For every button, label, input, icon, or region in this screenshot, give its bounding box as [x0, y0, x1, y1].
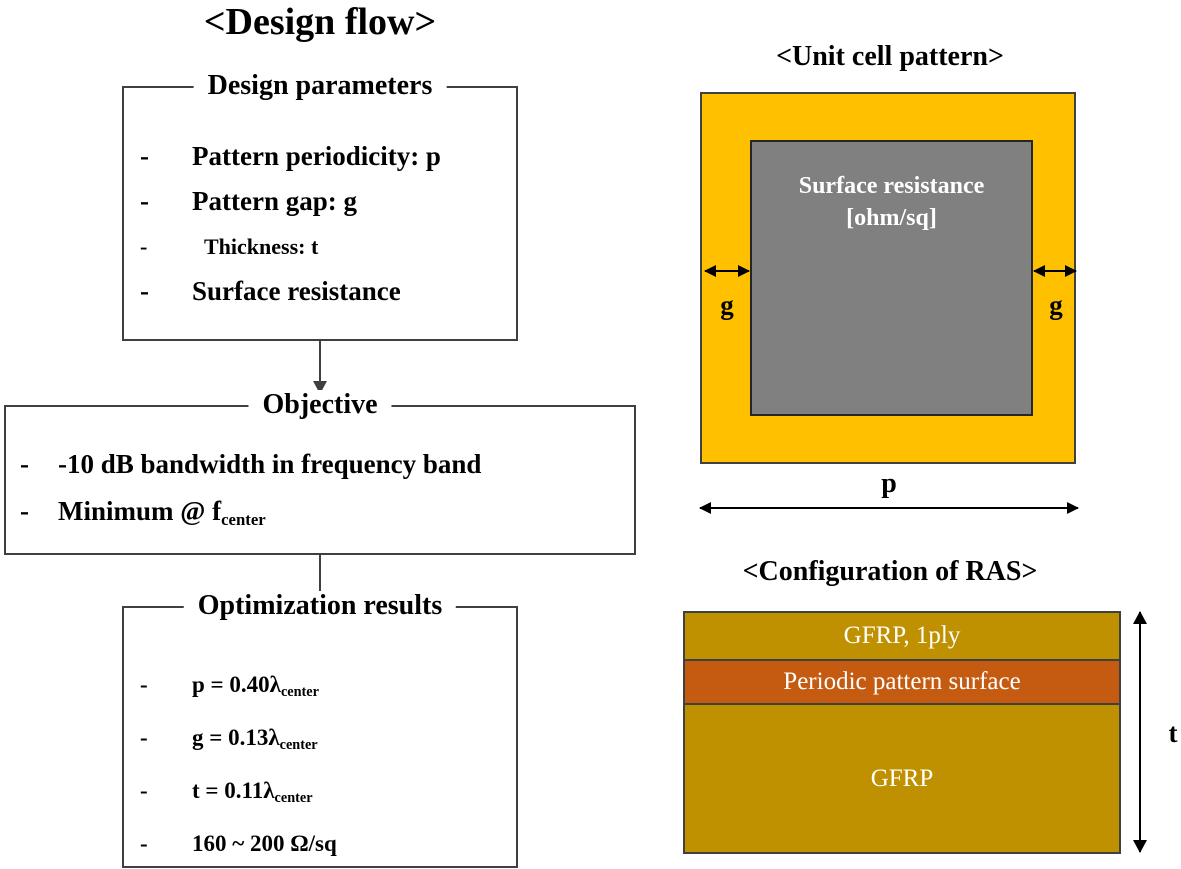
ras-layer-label: GFRP [871, 765, 934, 793]
list-item-label: Thickness: t [204, 224, 318, 269]
gap-label-right: g [1034, 290, 1078, 321]
bullet-dash: - [140, 660, 192, 709]
ras-layer-label: Periodic pattern surface [783, 668, 1020, 696]
thickness-dimension-arrow [1139, 612, 1141, 852]
ras-layer-stack: GFRP, 1ply Periodic pattern surface GFRP [683, 611, 1121, 854]
arrow-head-right-icon [738, 265, 750, 277]
bullet-dash: - [140, 224, 204, 269]
objective-list: - -10 dB bandwidth in frequency band - M… [20, 441, 634, 538]
periodicity-dimension-arrow [700, 507, 1078, 509]
bullet-dash: - [20, 441, 58, 488]
thickness-label: t [1158, 718, 1181, 749]
list-item-subscript: center [221, 496, 266, 543]
arrow-head-up-icon [1133, 611, 1147, 624]
list-item: - t = 0.11λcenter [140, 766, 516, 819]
list-item: - -10 dB bandwidth in frequency band [20, 441, 634, 488]
bullet-dash: - [140, 819, 192, 868]
surface-resistance-label-line1: Surface resistance [799, 170, 985, 202]
list-item-label: t = 0.11λ [192, 766, 275, 815]
bullet-dash: - [140, 269, 192, 314]
unit-cell-pattern-title: <Unit cell pattern> [680, 41, 1100, 73]
arrow-head-left-icon [704, 265, 716, 277]
design-parameters-box: Design parameters - Pattern periodicity:… [122, 86, 518, 341]
surface-resistance-label-line2: [ohm/sq] [846, 202, 937, 234]
list-item: - Pattern periodicity: p [140, 134, 516, 179]
list-item-label: Pattern periodicity: p [192, 134, 441, 179]
bullet-dash: - [140, 179, 192, 224]
arrow-head-left-icon [1033, 265, 1045, 277]
ras-layer-gfrp: GFRP [685, 705, 1119, 852]
optimization-results-box: Optimization results - p = 0.40λcenter -… [122, 606, 518, 868]
flow-connector-arrow-1 [319, 341, 321, 393]
list-item-label: Pattern gap: g [192, 179, 357, 224]
list-item: - p = 0.40λcenter [140, 660, 516, 713]
list-item: - Surface resistance [140, 269, 516, 314]
bullet-dash: - [140, 134, 192, 179]
gap-dimension-arrow-right [1034, 270, 1076, 272]
list-item: - Pattern gap: g [140, 179, 516, 224]
arrow-head-left-icon [699, 502, 711, 514]
design-parameters-title: Design parameters [194, 71, 447, 101]
arrow-head-down-icon [1133, 840, 1147, 853]
bullet-dash: - [140, 766, 192, 815]
list-item-label: g = 0.13λ [192, 713, 280, 762]
list-item-label: p = 0.40λ [192, 660, 281, 709]
objective-box: Objective - -10 dB bandwidth in frequenc… [4, 405, 636, 555]
list-item-label: -10 dB bandwidth in frequency band [58, 441, 481, 488]
list-item-label: Minimum @ f [58, 488, 221, 535]
ras-layer-gfrp-1ply: GFRP, 1ply [685, 613, 1119, 661]
list-item-label: 160 ~ 200 Ω/sq [192, 819, 337, 868]
optimization-results-title: Optimization results [184, 591, 456, 621]
list-item-subscript: center [275, 774, 313, 823]
ras-configuration-title: <Configuration of RAS> [680, 556, 1100, 588]
optimization-results-list: - p = 0.40λcenter - g = 0.13λcenter - t … [140, 660, 516, 868]
unit-cell-inner-square: Surface resistance [ohm/sq] [750, 140, 1033, 416]
list-item-label: Surface resistance [192, 269, 401, 314]
ras-layer-label: GFRP, 1ply [844, 622, 961, 650]
list-item: - Minimum @ fcenter [20, 488, 634, 538]
arrow-head-right-icon [1065, 265, 1077, 277]
ras-layer-periodic-pattern-surface: Periodic pattern surface [685, 661, 1119, 705]
gap-dimension-arrow-left [705, 270, 749, 272]
list-item-subscript: center [281, 668, 319, 717]
list-item: - g = 0.13λcenter [140, 713, 516, 766]
periodicity-label: p [700, 468, 1078, 500]
bullet-dash: - [140, 713, 192, 762]
list-item-subscript: center [280, 721, 318, 770]
arrow-head-right-icon [1067, 502, 1079, 514]
list-item: - Thickness: t [140, 224, 516, 269]
objective-title: Objective [248, 390, 391, 420]
list-item: - 160 ~ 200 Ω/sq [140, 819, 516, 868]
bullet-dash: - [20, 488, 58, 535]
gap-label-left: g [705, 290, 749, 321]
design-parameters-list: - Pattern periodicity: p - Pattern gap: … [140, 134, 516, 314]
design-flow-title: <Design flow> [0, 0, 640, 44]
